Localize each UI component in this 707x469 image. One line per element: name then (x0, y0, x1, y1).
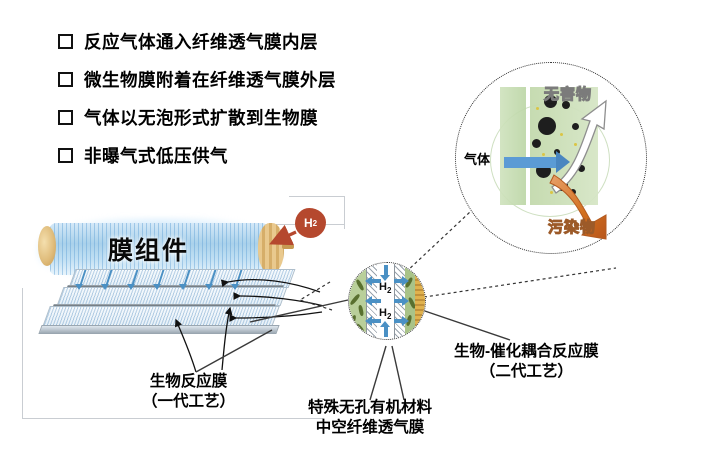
module-gas-inlet-nozzle (282, 244, 294, 249)
flow-arrow-icon (101, 284, 109, 290)
hydrogen-badge-label: H (304, 216, 313, 230)
square-bullet-icon (58, 148, 73, 163)
bullet-text: 气体以无泡形式扩散到生物膜 (84, 105, 318, 130)
h2-diffusion-arrow-icon (372, 299, 381, 303)
center-callout-leader (392, 346, 404, 400)
diagram-canvas: 反应气体通入纤维透气膜内层 微生物膜附着在纤维透气膜外层 气体以无泡形式扩散到生… (0, 0, 707, 469)
membrane-base-edge (38, 325, 279, 334)
bullet-text: 反应气体通入纤维透气膜内层 (84, 29, 318, 54)
pollutant-input-label: 污染物 (548, 216, 596, 237)
h2-diffusion-arrow-icon (402, 316, 409, 326)
square-bullet-icon (58, 34, 73, 49)
bullet-text: 非曝气式低压供气 (84, 143, 228, 168)
h2-diffusion-arrow-icon (372, 319, 381, 323)
list-item: 非曝气式低压供气 (58, 142, 398, 168)
list-item: 反应气体通入纤维透气膜内层 (58, 28, 398, 54)
zoom-cone-line (418, 268, 616, 298)
feature-bullet-list: 反应气体通入纤维透气膜内层 微生物膜附着在纤维透气膜外层 气体以无泡形式扩散到生… (58, 28, 398, 180)
flow-arrow-icon (153, 284, 161, 290)
hollow-fiber-cross-section: H2 H2 (348, 262, 426, 340)
square-bullet-icon (58, 72, 73, 87)
h2-diffusion-arrow-icon (402, 276, 409, 286)
center-callout-leader (370, 346, 386, 400)
flow-arrow-icon (231, 284, 239, 290)
module-end-cap-left (38, 226, 56, 266)
h2-diffusion-arrow-icon (365, 276, 372, 286)
square-bullet-icon (58, 110, 73, 125)
callout-bio-catalytic-membrane: 生物-催化耦合反应膜 （二代工艺） (454, 342, 599, 382)
flow-arrow-icon (205, 284, 213, 290)
h2-diffusion-arrow-icon (402, 296, 409, 306)
zoom-detail-circle: 气体 无害物 污染物 (455, 62, 647, 254)
h2-flow-arrow-icon (380, 321, 390, 327)
bullet-text: 微生物膜附着在纤维透气膜外层 (84, 67, 336, 92)
hydrogen-badge: H2 (295, 208, 326, 238)
h2-flow-arrow-icon (384, 327, 388, 337)
h2-diffusion-arrow-icon (372, 279, 381, 283)
catalyst-layer (415, 263, 425, 339)
flow-arrow-icon (179, 284, 187, 290)
module-title: 膜组件 (108, 231, 189, 267)
membrane-sheet (42, 306, 280, 327)
hydrogen-badge-subscript: 2 (313, 219, 317, 228)
h2-diffusion-arrow-icon (365, 316, 372, 326)
fiber-h2-label: H2 (379, 281, 391, 295)
module-end-cap-right (258, 223, 284, 273)
membrane-sheet-stack (30, 269, 290, 335)
callout-hollow-fiber-membrane: 特殊无孔有机材料 中空纤维透气膜 (308, 398, 432, 438)
h2-flow-arrow-icon (380, 275, 390, 281)
h2-diffusion-arrow-icon (365, 296, 372, 306)
callout-bioreactive-membrane: 生物反应膜 （一代工艺） (142, 372, 235, 412)
list-item: 微生物膜附着在纤维透气膜外层 (58, 66, 398, 92)
membrane-module-illustration: 膜组件 (30, 215, 290, 335)
flow-arrow-icon (75, 284, 83, 290)
harmless-output-label: 无害物 (544, 83, 592, 104)
list-item: 气体以无泡形式扩散到生物膜 (58, 104, 398, 130)
right-callout-leader (416, 308, 510, 340)
flow-arrow-icon (127, 284, 135, 290)
biofilm-layer-outer-left (349, 263, 366, 339)
